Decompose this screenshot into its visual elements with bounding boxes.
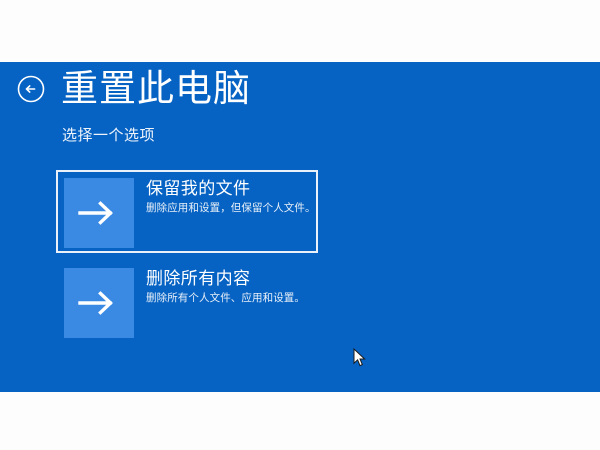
option-remove-everything[interactable]: 删除所有内容 删除所有个人文件、应用和设置。: [56, 260, 318, 343]
mouse-pointer-icon: [353, 348, 367, 368]
option-title: 保留我的文件: [146, 178, 311, 200]
option-text-block: 保留我的文件 删除应用和设置，但保留个人文件。: [146, 178, 311, 215]
option-keep-my-files[interactable]: 保留我的文件 删除应用和设置，但保留个人文件。: [56, 170, 318, 253]
panel-header: 重置此电脑 选择一个选项: [0, 62, 600, 122]
bottom-letterbox-band: [0, 392, 600, 450]
top-letterbox-band: [0, 0, 600, 62]
option-content: 保留我的文件 删除应用和设置，但保留个人文件。: [64, 178, 310, 245]
option-content: 删除所有内容 删除所有个人文件、应用和设置。: [64, 268, 310, 335]
arrow-right-icon: [64, 178, 134, 248]
recovery-screen: 重置此电脑 选择一个选项 保留我的文件 删除应用和设置，但保留个人文件。: [0, 0, 600, 450]
page-title: 重置此电脑: [61, 62, 251, 116]
option-text-block: 删除所有内容 删除所有个人文件、应用和设置。: [146, 268, 311, 305]
option-description: 删除应用和设置，但保留个人文件。: [146, 201, 311, 215]
page-subtitle: 选择一个选项: [62, 126, 155, 146]
option-description: 删除所有个人文件、应用和设置。: [146, 291, 311, 305]
arrow-right-icon: [64, 268, 134, 338]
reset-this-pc-panel: 重置此电脑 选择一个选项 保留我的文件 删除应用和设置，但保留个人文件。: [0, 62, 600, 392]
back-arrow-circle-icon[interactable]: [17, 75, 45, 103]
option-title: 删除所有内容: [146, 268, 311, 290]
